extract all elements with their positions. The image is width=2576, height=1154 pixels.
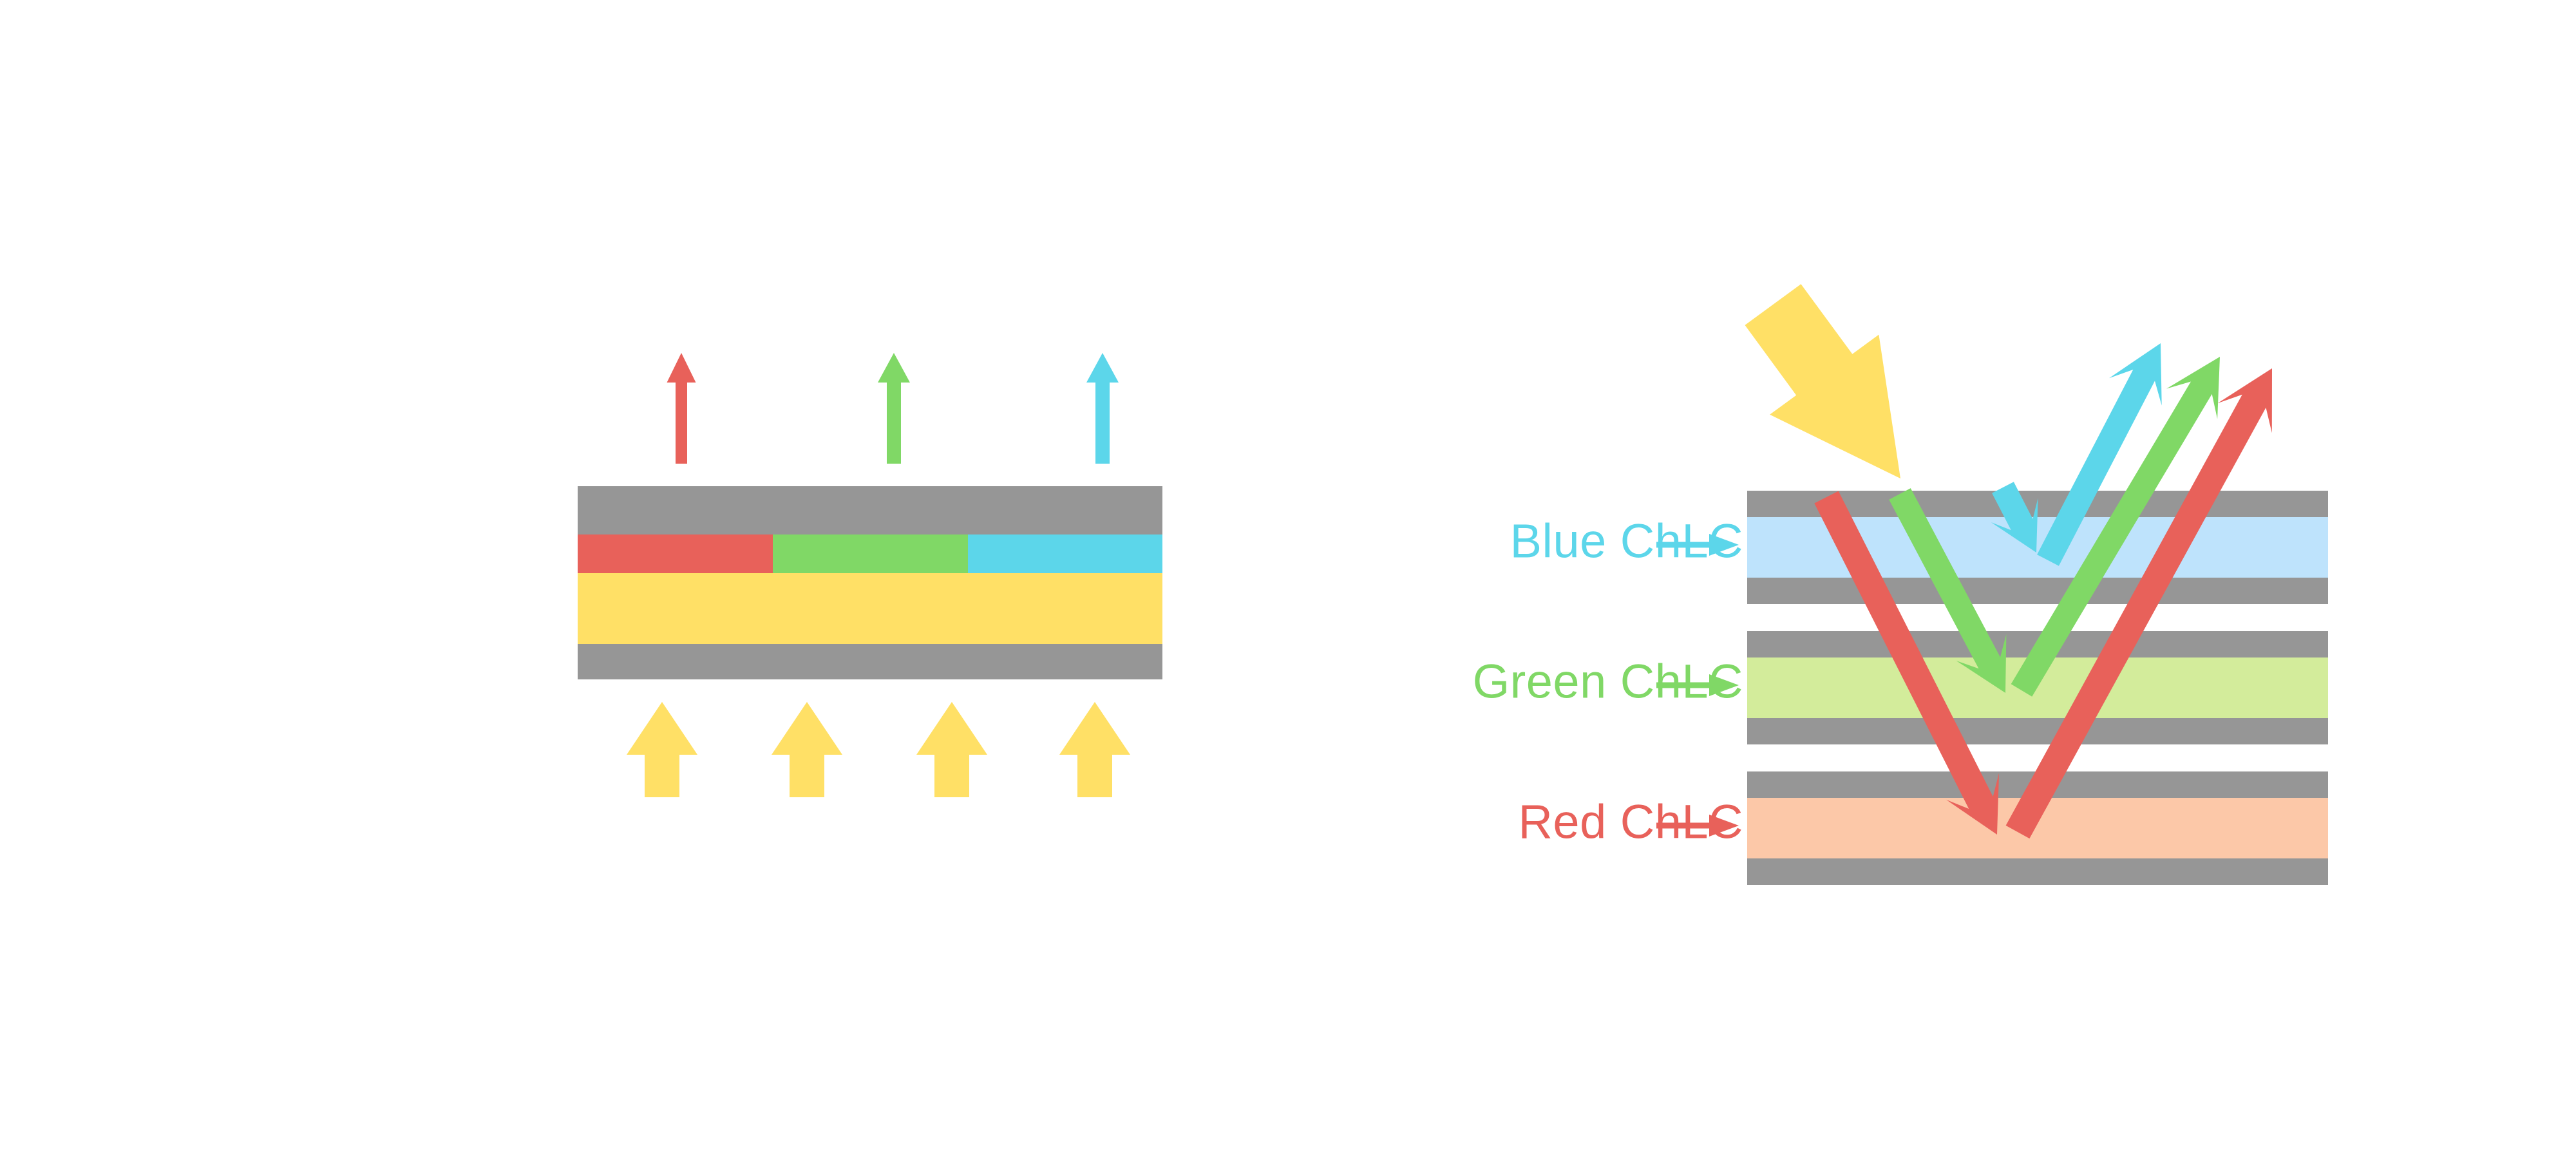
- top-gray-substrate: [578, 486, 1162, 534]
- right-panel-reflective-stack: [1745, 284, 2329, 885]
- green-chlc-panel-bottom-electrode: [1747, 718, 2328, 744]
- backlight-arrows: [627, 702, 1130, 797]
- backlight-arrow-4: [1059, 702, 1130, 797]
- blue-chlc-panel-bottom-electrode: [1747, 578, 2328, 604]
- emitted-red-arrow: [667, 353, 696, 464]
- chlc-layer-labels: Blue ChLCGreen ChLCRed ChLC: [1473, 515, 1743, 849]
- green-chlc-panel-label: Green ChLC: [1473, 655, 1743, 708]
- emitted-cyan-arrow: [1086, 353, 1119, 464]
- emitted-light-arrows: [667, 353, 1119, 464]
- incident-white-light-arrow: [1745, 284, 1901, 478]
- rgb-color-filter-row: [578, 534, 1162, 573]
- yellow-backlight-layer: [578, 573, 1162, 644]
- green-filter-segment: [773, 534, 968, 573]
- blue-chlc-panel-label: Blue ChLC: [1510, 515, 1743, 568]
- backlight-arrow-3: [916, 702, 987, 797]
- diagram-canvas: Blue ChLCGreen ChLCRed ChLC: [0, 0, 2576, 1154]
- red-chlc-panel-bottom-electrode: [1747, 858, 2328, 885]
- left-panel-emissive-stack: [578, 353, 1162, 797]
- chlc-diagram-svg: Blue ChLCGreen ChLCRed ChLC: [0, 0, 2576, 1154]
- backlight-arrow-1: [627, 702, 697, 797]
- bottom-gray-substrate: [578, 644, 1162, 679]
- red-filter-segment: [578, 534, 773, 573]
- backlight-arrow-2: [772, 702, 842, 797]
- emitted-green-arrow: [878, 353, 910, 464]
- cyan-filter-segment: [968, 534, 1162, 573]
